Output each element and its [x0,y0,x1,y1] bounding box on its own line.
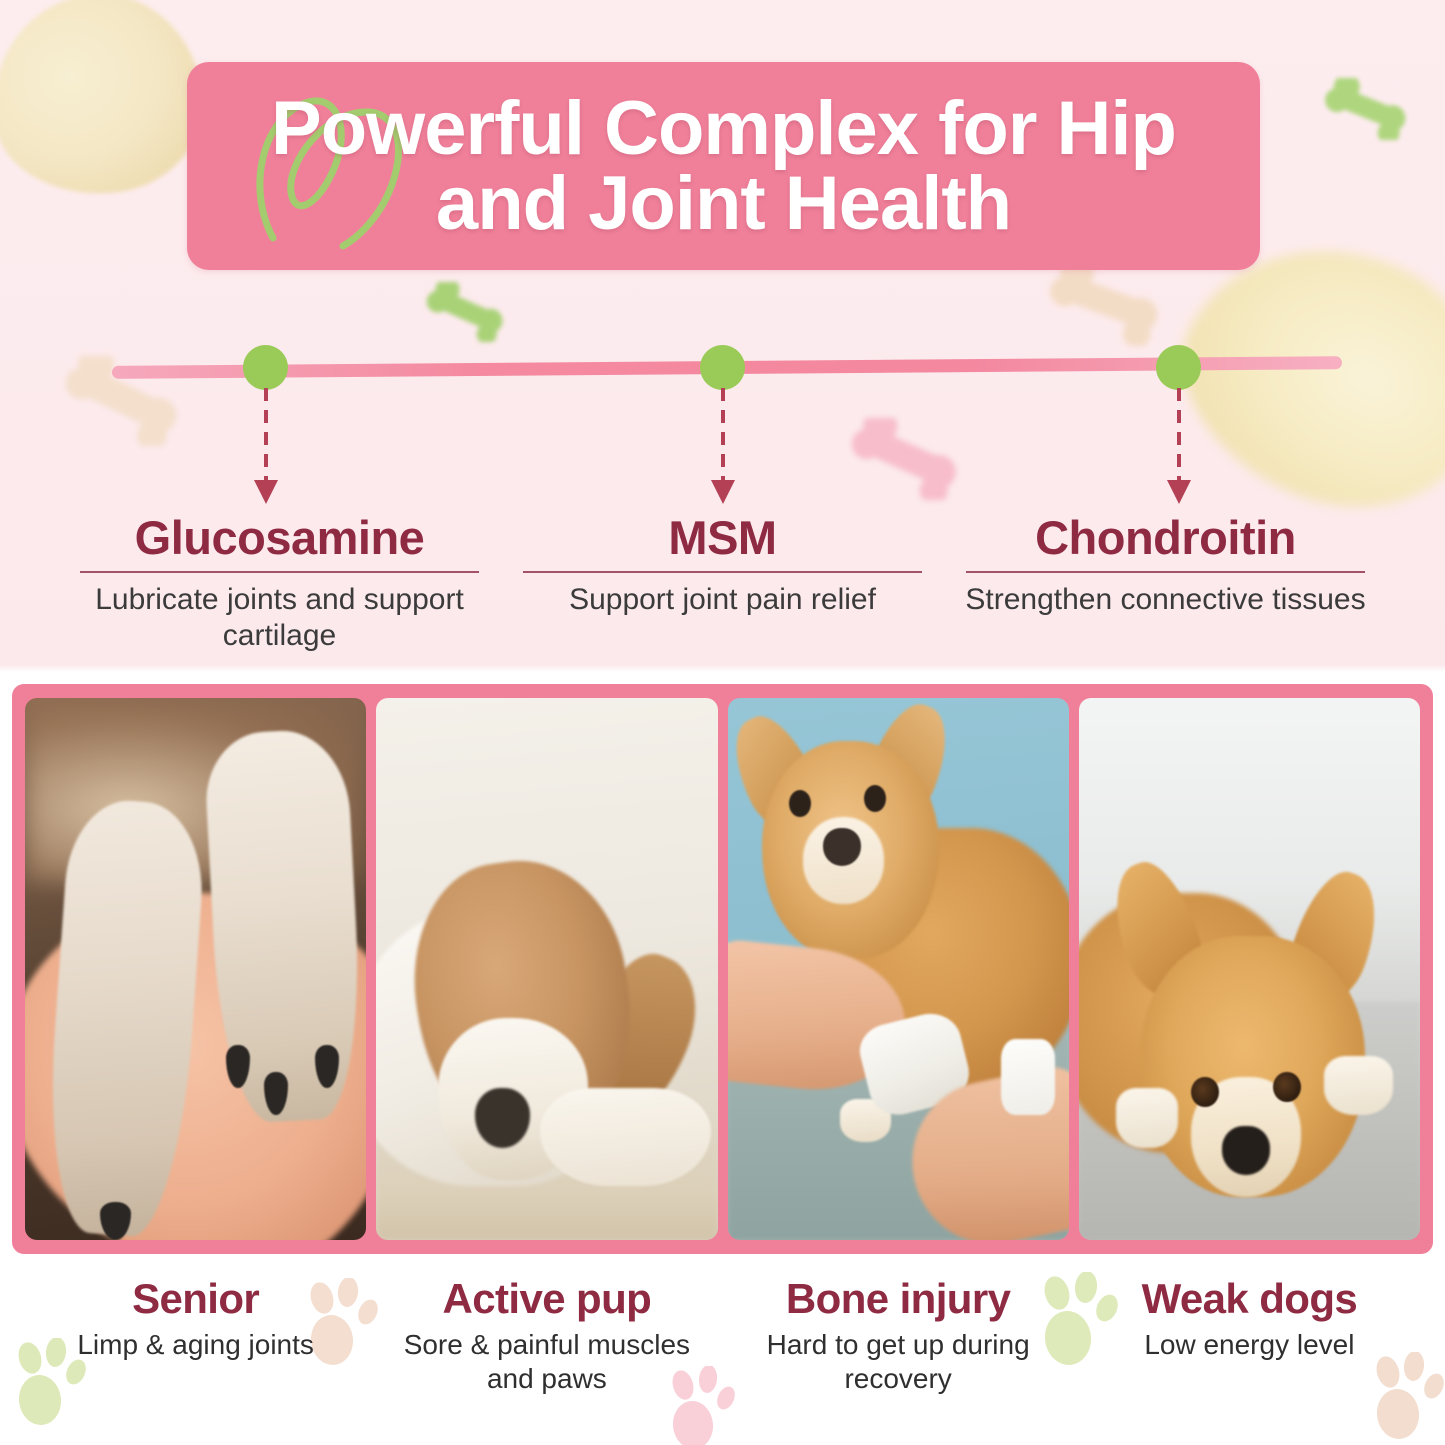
beige-bone-icon-upper-right [1045,262,1165,346]
photo-gallery [12,684,1433,1254]
photo-paws-in-hand [25,698,366,1240]
use-case-title: Active pup [377,1276,716,1322]
green-bone-icon-mid-left [423,282,509,342]
use-case-weak-dogs: Weak dogs Low energy level [1074,1276,1425,1395]
ingredient-description: Lubricate joints and support cartilage [68,582,491,655]
dog-treat-top-left [0,0,212,204]
infographic-root: Powerful Complex for Hip and Joint Healt… [0,0,1445,1445]
dashed-arrow-icon-msm [721,388,725,506]
use-case-description: Sore & painful muscles and paws [377,1328,716,1395]
ingredient-chondroitin: Chondroitin Strengthen connective tissue… [944,512,1387,655]
ingredient-description: Support joint pain relief [511,582,934,619]
ingredient-name: MSM [511,512,934,565]
dashed-arrow-icon-chondroitin [1177,388,1181,506]
ingredient-rule [80,571,479,573]
use-case-senior: Senior Limp & aging joints [20,1276,371,1395]
use-case-title: Senior [26,1276,365,1322]
use-case-title: Weak dogs [1080,1276,1419,1322]
use-case-description: Limp & aging joints [26,1328,365,1362]
title-line-2: and Joint Health [436,161,1011,246]
ingredient-msm: MSM Support joint pain relief [501,512,944,655]
use-case-list: Senior Limp & aging joints Active pup So… [0,1276,1445,1395]
photo-terrier-resting [376,698,717,1240]
title-banner: Powerful Complex for Hip and Joint Healt… [187,62,1260,270]
ingredient-glucosamine: Glucosamine Lubricate joints and support… [58,512,501,655]
ingredient-name: Glucosamine [68,512,491,565]
use-case-active-pup: Active pup Sore & painful muscles and pa… [371,1276,722,1395]
use-case-description: Hard to get up during recovery [729,1328,1068,1395]
dashed-arrow-icon-glucosamine [264,388,268,506]
green-bone-icon-top-right [1322,78,1412,140]
connector-dot-glucosamine [243,345,288,390]
page-title: Powerful Complex for Hip and Joint Healt… [247,91,1200,241]
use-case-bone-injury: Bone injury Hard to get up during recove… [723,1276,1074,1395]
photo-chihuahua-bandage [728,698,1069,1240]
connector-dot-chondroitin [1156,345,1201,390]
title-line-1: Powerful Complex for Hip [271,86,1176,171]
ingredient-name: Chondroitin [954,512,1377,565]
use-case-description: Low energy level [1080,1328,1419,1362]
photo-corgi-lying [1079,698,1420,1240]
use-case-title: Bone injury [729,1276,1068,1322]
ingredient-list: Glucosamine Lubricate joints and support… [0,512,1445,655]
ingredient-rule [523,571,922,573]
ingredient-rule [966,571,1365,573]
pink-bone-icon-center [846,418,964,500]
connector-dot-msm [700,345,745,390]
ingredient-description: Strengthen connective tissues [954,582,1377,619]
